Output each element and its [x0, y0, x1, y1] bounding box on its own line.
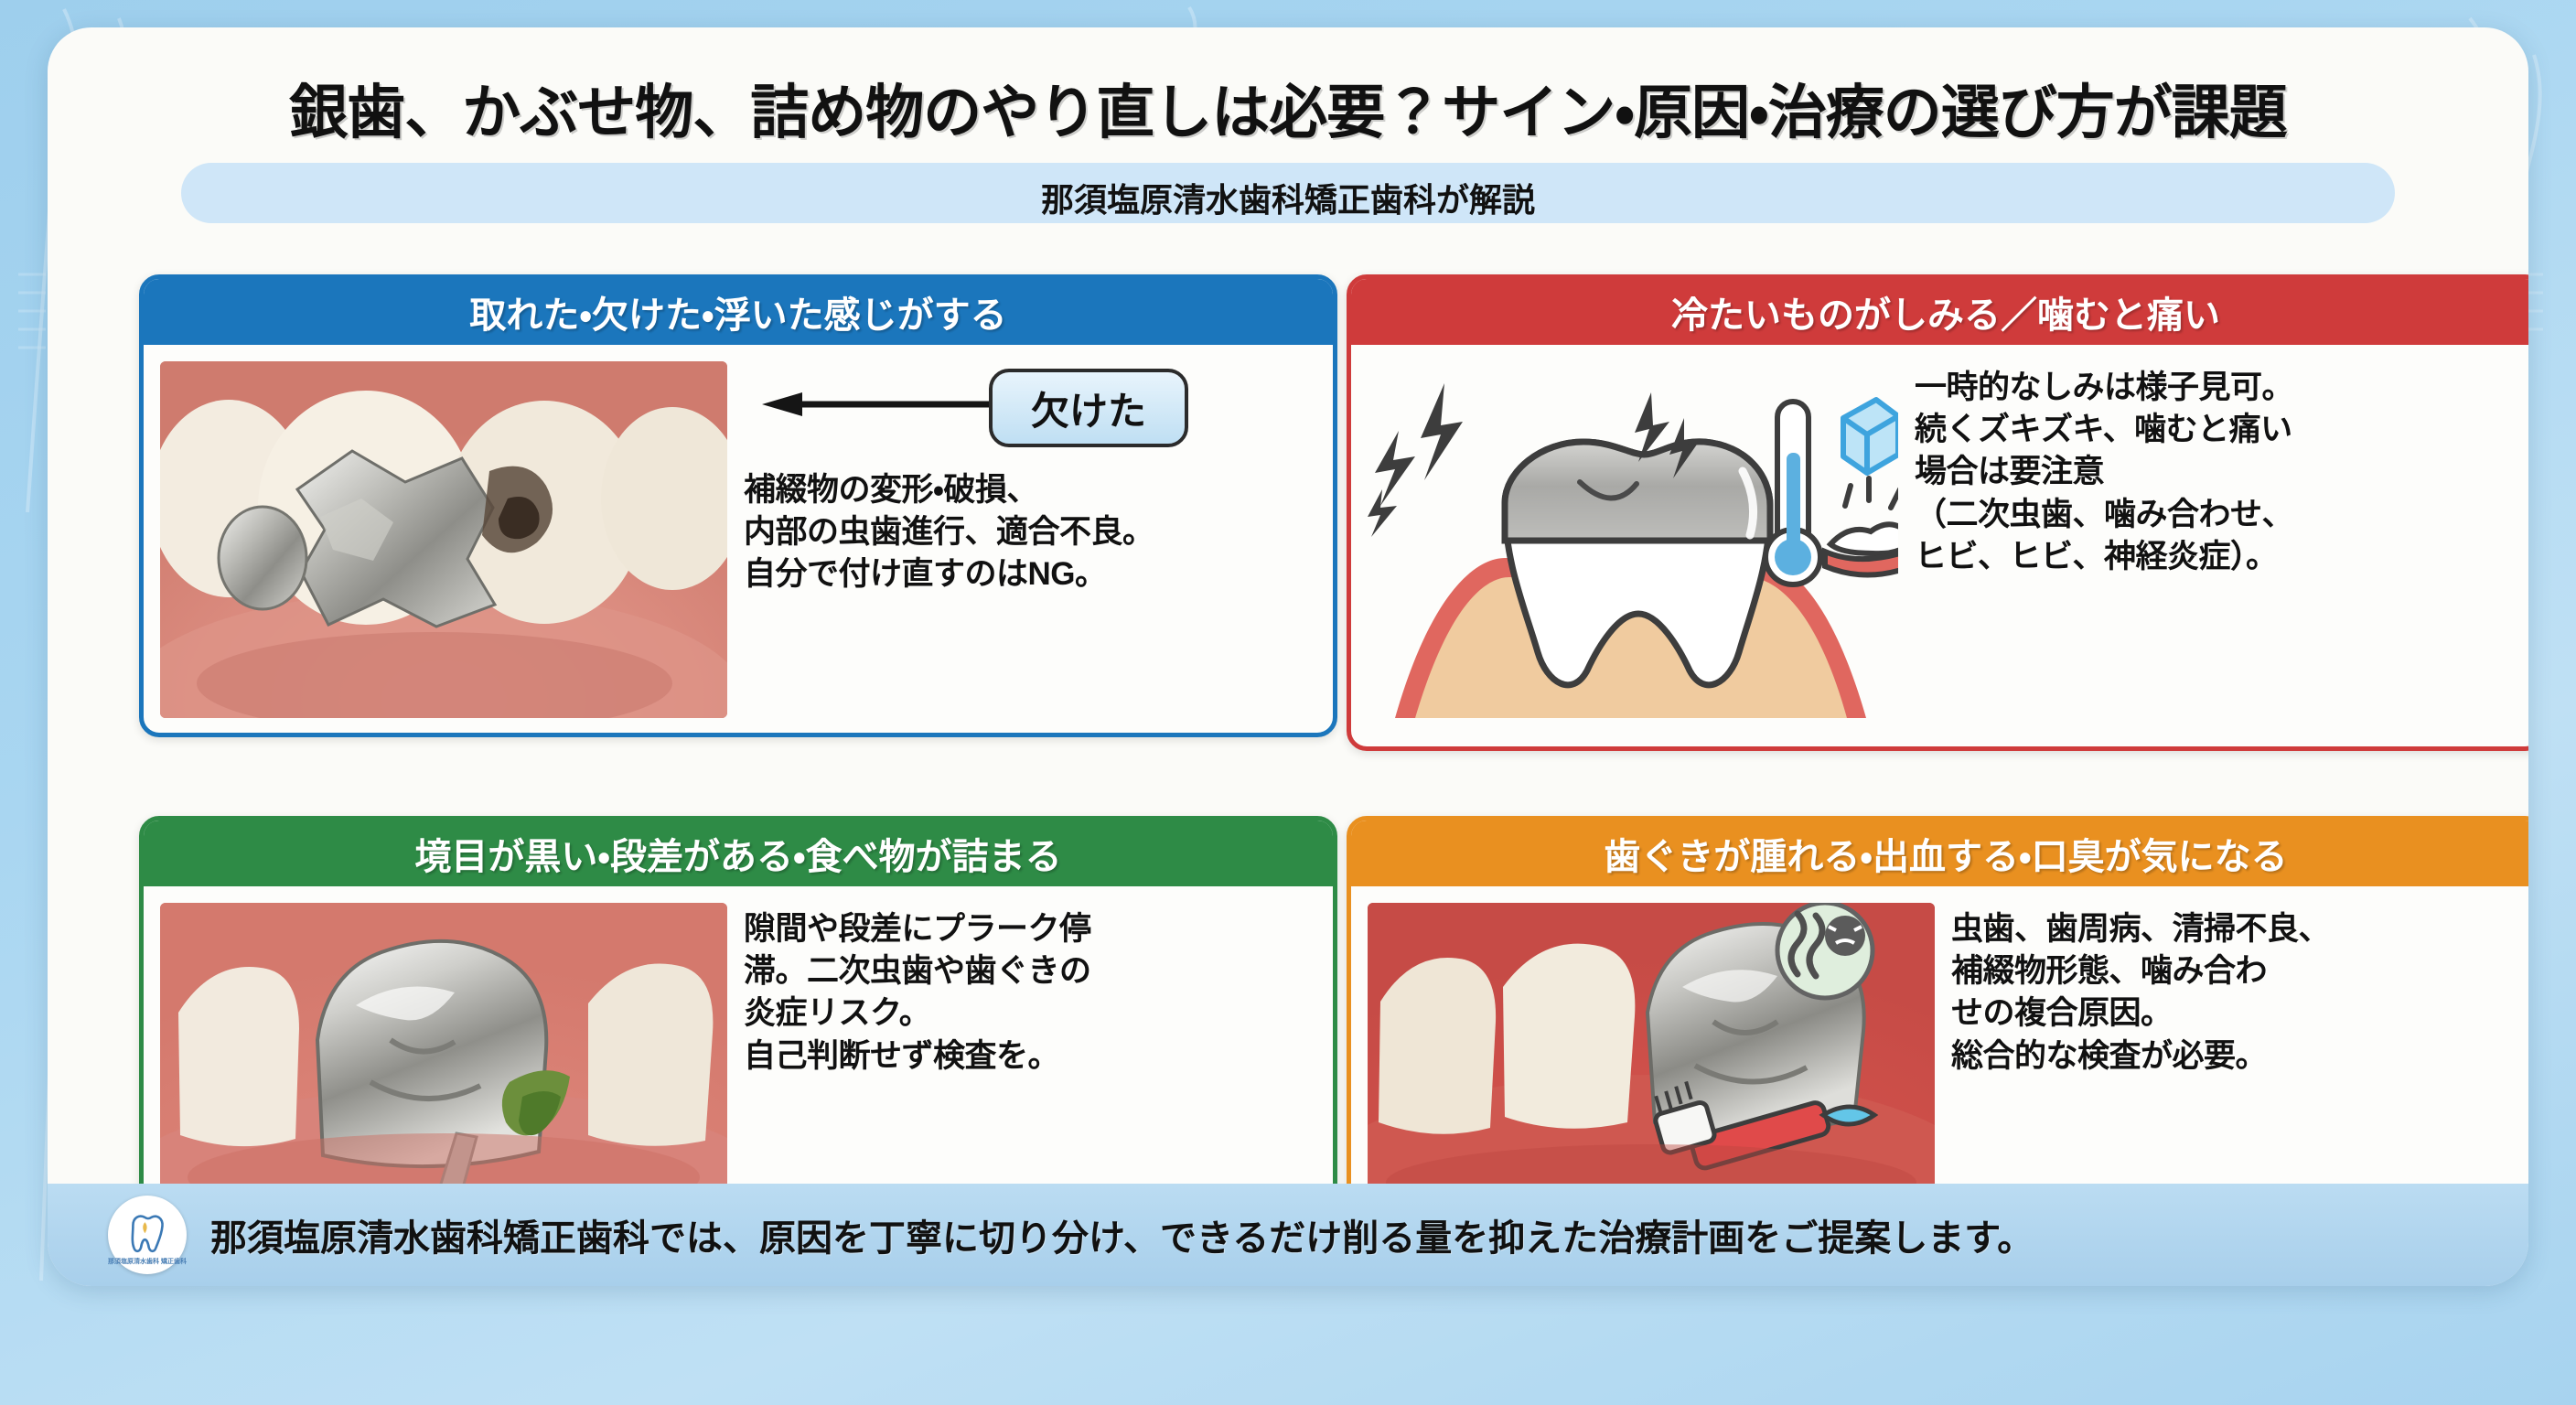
silver-crown-food-impaction-photo — [160, 903, 727, 1205]
callout-chipped-text: 欠けた — [1031, 381, 1146, 436]
panel-3-text: 隙間や段差にプラーク停 滞。二次虫歯や歯ぐきの 炎症リスク。 自己判断せず検査を… — [744, 903, 1318, 1205]
panel-2-text: 一時的なしみは様子見可。 続くズキズキ、噛むと痛い 場合は要注意 （二次虫歯、噛… — [1915, 361, 2526, 732]
subtitle: 那須塩原清水歯科矯正歯科が解説 — [48, 174, 2528, 221]
panel-2-heading: 冷たいものがしみる／噛むと痛い — [1351, 279, 2528, 345]
footer-message: 那須塩原清水歯科矯正歯科では、原因を丁寧に切り分け、できるだけ削る量を抑えた治療… — [210, 1208, 2034, 1261]
panel-cold-sensitivity: 冷たいものがしみる／噛むと痛い — [1347, 274, 2528, 751]
panel-2-body: 一時的なしみは様子見可。 続くズキズキ、噛むと痛い 場合は要注意 （二次虫歯、噛… — [1351, 345, 2528, 746]
panel-1-heading: 取れた・欠けた・浮いた感じがする — [144, 279, 1333, 345]
page-title: 銀歯、かぶせ物、詰め物のやり直しは必要？サイン・原因・治療の選び方が課題 — [48, 66, 2528, 150]
tooth-illustration-svg — [1368, 361, 1898, 727]
panel-4-heading: 歯ぐきが腫れる・出血する・口臭が気になる — [1351, 820, 2528, 886]
panel-4-body: 虫歯、歯周病、清掃不良、 補綴物形態、噛み合わ せの複合原因。 総合的な検査が必… — [1351, 886, 2528, 1219]
tooth-logo-icon — [123, 1211, 171, 1259]
clinical-photo-3-render — [160, 903, 727, 1205]
callout-chipped-label: 欠けた — [989, 369, 1188, 447]
thermometer-icon — [1766, 402, 1820, 585]
silver-inlay-chipped-photo — [160, 361, 727, 718]
ice-cube-icon — [1843, 400, 1898, 473]
panel-3-body: 隙間や段差にプラーク停 滞。二次虫歯や歯ぐきの 炎症リスク。 自己判断せず検査を… — [144, 886, 1333, 1219]
swollen-gums-silver-crown-photo — [1368, 903, 1935, 1205]
callout-arrow-icon — [762, 392, 991, 416]
clinic-logo: 那須塩原清水歯科 矯正歯科 — [108, 1196, 187, 1274]
panel-loose-or-chipped: 取れた・欠けた・浮いた感じがする — [139, 274, 1337, 737]
panel-black-margin-gap: 境目が黒い・段差がある・食べ物が詰まる — [139, 816, 1337, 1224]
clinic-logo-caption: 那須塩原清水歯科 矯正歯科 — [108, 1259, 187, 1266]
footer-banner: 那須塩原清水歯科 矯正歯科 那須塩原清水歯科矯正歯科では、原因を丁寧に切り分け、… — [48, 1184, 2528, 1286]
panel-3-heading: 境目が黒い・段差がある・食べ物が詰まる — [144, 820, 1333, 886]
main-card: 銀歯、かぶせ物、詰め物のやり直しは必要？サイン・原因・治療の選び方が課題 那須塩… — [48, 27, 2528, 1286]
panel-1-text: 補綴物の変形・破損、 内部の虫歯進行、適合不良。 自分で付け直すのはNG。 — [744, 469, 1318, 596]
crowned-tooth-sensitivity-illustration — [1368, 361, 1898, 732]
bad-breath-icon — [1777, 903, 1873, 998]
clinical-photo-4-render — [1368, 903, 1935, 1205]
bite-pain-icon — [1825, 478, 1898, 575]
panel-swollen-gums: 歯ぐきが腫れる・出血する・口臭が気になる — [1347, 816, 2528, 1224]
clinical-photo-1-render — [160, 361, 727, 718]
panel-4-text: 虫歯、歯周病、清掃不良、 補綴物形態、噛み合わ せの複合原因。 総合的な検査が必… — [1951, 903, 2526, 1205]
metal-crown — [1505, 442, 1770, 541]
panel-1-body: 欠けた 補綴物の変形・破損、 内部の虫歯進行、適合不良。 自分で付け直すのはNG… — [144, 345, 1333, 733]
